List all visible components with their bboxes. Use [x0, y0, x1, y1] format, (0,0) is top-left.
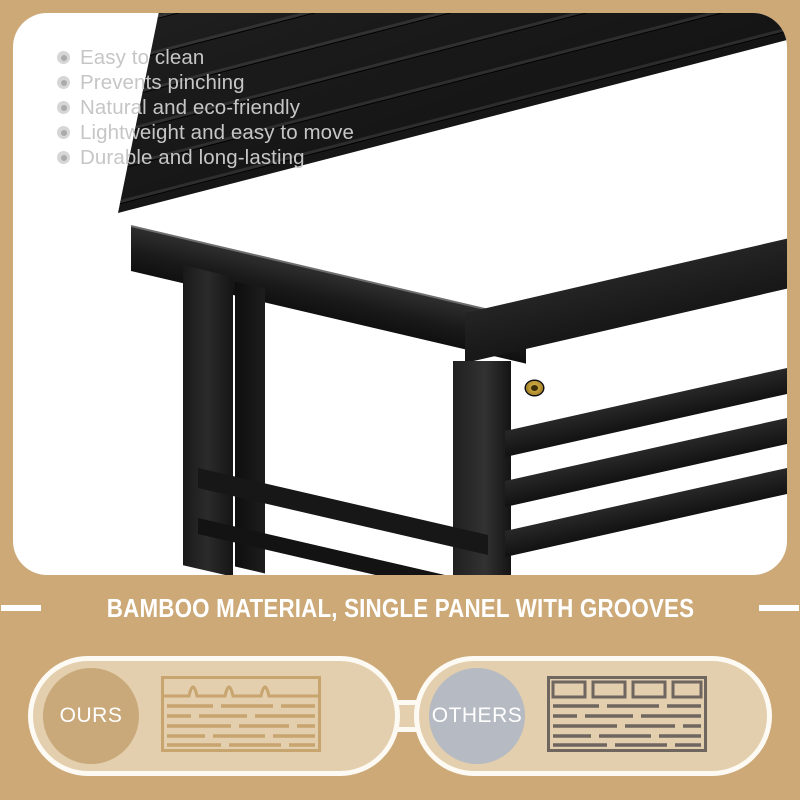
feature-label: Durable and long-lasting: [80, 146, 305, 170]
bullet-dot-icon: [57, 101, 70, 114]
feature-label: Prevents pinching: [80, 71, 245, 95]
brass-screw-icon: [526, 381, 543, 395]
product-infographic: Easy to clean Prevents pinching Natural …: [0, 0, 800, 800]
banner-title: BAMBOO MATERIAL, SINGLE PANEL WITH GROOV…: [106, 593, 693, 624]
bullet-dot-icon: [57, 76, 70, 89]
bullet-dot-icon: [57, 126, 70, 139]
feature-label: Natural and eco-friendly: [80, 96, 300, 120]
feature-label: Lightweight and easy to move: [80, 121, 354, 145]
others-badge: OTHERS: [429, 668, 525, 764]
headline-banner: BAMBOO MATERIAL, SINGLE PANEL WITH GROOV…: [0, 575, 800, 641]
list-item: Durable and long-lasting: [57, 145, 354, 170]
list-item: Prevents pinching: [57, 70, 354, 95]
feature-label: Easy to clean: [80, 46, 204, 70]
comparison-card-others: OTHERS: [414, 656, 772, 776]
comparison-card-ours: OURS: [28, 656, 400, 776]
list-item: Lightweight and easy to move: [57, 120, 354, 145]
ours-label: OURS: [60, 704, 123, 728]
dash-rule-right-icon: [759, 605, 799, 611]
comparison-section: OURS: [0, 648, 800, 788]
others-label: OTHERS: [432, 704, 523, 728]
multi-piece-spliced-panel-icon: [547, 676, 707, 757]
bullet-dot-icon: [57, 51, 70, 64]
list-item: Easy to clean: [57, 45, 354, 70]
product-photo-panel: Easy to clean Prevents pinching Natural …: [13, 13, 787, 575]
single-panel-with-grooves-icon: [161, 676, 321, 757]
dash-rule-left-icon: [1, 605, 41, 611]
ours-badge: OURS: [43, 668, 139, 764]
list-item: Natural and eco-friendly: [57, 95, 354, 120]
bullet-dot-icon: [57, 151, 70, 164]
bench-seat-side-face: [465, 233, 787, 363]
feature-bullet-list: Easy to clean Prevents pinching Natural …: [57, 45, 354, 170]
